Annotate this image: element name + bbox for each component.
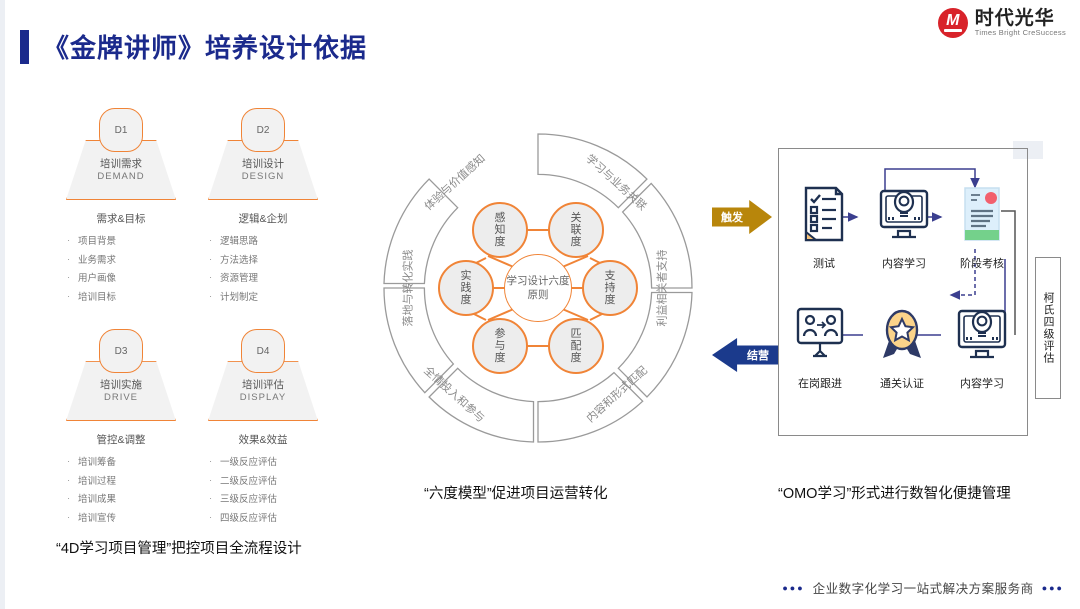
fourd-name-en-d2: DESIGN (242, 171, 284, 184)
fourd-badge-d3: D3 (99, 329, 143, 373)
omo-step-stage-assessment[interactable]: 阶段考核 (945, 177, 1019, 271)
omo-step-content-learning-top[interactable]: 内容学习 (867, 177, 941, 271)
wheel-node-label: 感知度 (493, 212, 507, 249)
caption-fourd: “4D学习项目管理”把控项目全流程设计 (56, 537, 302, 558)
fourd-name-cn-d2: 培训设计 (242, 157, 284, 171)
brand-logo: M 时代光华 Times Bright CreSuccess (938, 8, 1066, 38)
fourd-item-d1: D1 培训需求 DEMAND 需求&目标 项目背景 业务需求 用户画像 培训目标 (62, 108, 180, 307)
fourd-name-en-d1: DEMAND (97, 171, 144, 184)
fourd-bullets-d2: 逻辑思路 方法选择 资源管理 计划制定 (204, 233, 322, 307)
slide: 《金牌讲师》培养设计依据 M 时代光华 Times Bright CreSucc… (0, 0, 1080, 609)
title-accent-bar (20, 30, 29, 64)
fourd-item-d2: D2 培训设计 DESIGN 逻辑&企划 逻辑思路 方法选择 资源管理 计划制定 (204, 108, 322, 307)
footer-text: 企业数字化学习一站式解决方案服务商 (813, 578, 1034, 597)
list-item: 业务需求 (78, 252, 180, 271)
logo-letter: M (938, 13, 968, 28)
list-item: 培训目标 (78, 289, 180, 308)
fourd-badge-d1: D1 (99, 108, 143, 152)
fourd-name-cn-d1: 培训需求 (100, 157, 142, 171)
fourd-badge-d4: D4 (241, 329, 285, 373)
omo-step-label: 内容学习 (867, 255, 941, 271)
caption-omo: “OMO学习”形式进行数智化便捷管理 (778, 482, 1011, 503)
fourd-head-d1: 需求&目标 (62, 211, 180, 226)
wheel-node-label: 支持度 (603, 270, 617, 307)
people-board-icon (783, 297, 857, 371)
omo-step-on-job-followup[interactable]: 在岗跟进 (783, 297, 857, 391)
omo-step-label: 在岗跟进 (783, 375, 857, 391)
fourd-section: D1 培训需求 DEMAND 需求&目标 项目背景 业务需求 用户画像 培训目标… (62, 108, 322, 528)
trigger-arrow-label: 触发 (721, 209, 743, 225)
logo-underbar (944, 29, 962, 32)
wheel-node-participation[interactable]: 参与度 (472, 318, 528, 374)
fourd-badge-d2: D2 (241, 108, 285, 152)
title-text: 《金牌讲师》培养设计依据 (43, 28, 367, 65)
wheel-hub: 学习设计六度原则 (504, 254, 572, 322)
ring-label-stakeholder-support: 利益相关者支持 (654, 250, 670, 327)
omo-step-label: 阶段考核 (945, 255, 1019, 271)
list-item: 培训宣传 (78, 510, 180, 529)
list-item: 二级反应评估 (220, 473, 322, 492)
fourd-item-d3: D3 培训实施 DRIVE 管控&调整 培训筹备 培训过程 培训成果 培训宣传 (62, 329, 180, 528)
list-item: 用户画像 (78, 270, 180, 289)
fourd-shape-d2: D2 培训设计 DESIGN (204, 108, 322, 200)
wheel-node-label: 关联度 (569, 212, 583, 249)
fourd-shape-d4: D4 培训评估 DISPLAY (204, 329, 322, 421)
fourd-row-bottom: D3 培训实施 DRIVE 管控&调整 培训筹备 培训过程 培训成果 培训宣传 … (62, 329, 322, 528)
page-title: 《金牌讲师》培养设计依据 (20, 28, 367, 65)
fourd-name-en-d3: DRIVE (104, 392, 138, 405)
monitor-bulb-icon (945, 297, 1019, 371)
report-icon (945, 177, 1019, 251)
list-item: 四级反应评估 (220, 510, 322, 529)
list-item: 计划制定 (220, 289, 322, 308)
closing-arrow-label: 结营 (747, 347, 769, 363)
list-item: 资源管理 (220, 270, 322, 289)
logo-name-en: Times Bright CreSuccess (975, 29, 1066, 37)
omo-flow: 测试 内容学习 (779, 149, 1027, 435)
omo-section: 测试 内容学习 (778, 148, 1028, 436)
fourd-shape-d3: D3 培训实施 DRIVE (62, 329, 180, 421)
wheel-node-label: 参与度 (493, 328, 507, 365)
list-item: 项目背景 (78, 233, 180, 252)
list-item: 三级反应评估 (220, 491, 322, 510)
wheel-hub-label: 学习设计六度原则 (505, 274, 571, 302)
trigger-arrow: 触发 (712, 200, 772, 234)
footer-dots-left: ●●● (782, 583, 804, 593)
wheel-node-support[interactable]: 支持度 (582, 260, 638, 316)
list-item: 培训过程 (78, 473, 180, 492)
fourd-bullets-d1: 项目背景 业务需求 用户画像 培训目标 (62, 233, 180, 307)
omo-step-label: 测试 (787, 255, 861, 271)
monitor-bulb-icon (867, 177, 941, 251)
omo-step-pass-certification[interactable]: 通关认证 (865, 297, 939, 391)
fourd-name-cn-d4: 培训评估 (242, 378, 284, 392)
wheel-node-match[interactable]: 匹配度 (548, 318, 604, 374)
footer-dots-right: ●●● (1042, 583, 1064, 593)
medal-icon (865, 297, 939, 371)
fourd-bullets-d4: 一级反应评估 二级反应评估 三级反应评估 四级反应评估 (204, 454, 322, 528)
ring-label-landing-transfer: 落地与转化实践 (400, 250, 416, 327)
fourd-head-d2: 逻辑&企划 (204, 211, 322, 226)
left-edge-strip (0, 0, 5, 609)
fourd-shape-d1: D1 培训需求 DEMAND (62, 108, 180, 200)
omo-step-test[interactable]: 测试 (787, 177, 861, 271)
list-item: 逻辑思路 (220, 233, 322, 252)
footer: ●●● 企业数字化学习一站式解决方案服务商 ●●● (782, 578, 1064, 597)
wheel-node-relevance[interactable]: 关联度 (548, 202, 604, 258)
fourd-bullets-d3: 培训筹备 培训过程 培训成果 培训宣传 (62, 454, 180, 528)
closing-arrow: 结营 (712, 338, 778, 372)
list-item: 方法选择 (220, 252, 322, 271)
omo-step-label: 内容学习 (945, 375, 1019, 391)
fourd-head-d4: 效果&效益 (204, 432, 322, 447)
fourd-item-d4: D4 培训评估 DISPLAY 效果&效益 一级反应评估 二级反应评估 三级反应… (204, 329, 322, 528)
caption-wheel: “六度模型”促进项目运营转化 (424, 482, 608, 503)
list-item: 培训筹备 (78, 454, 180, 473)
fourd-row-top: D1 培训需求 DEMAND 需求&目标 项目背景 业务需求 用户画像 培训目标… (62, 108, 322, 307)
fourd-name-en-d4: DISPLAY (240, 392, 286, 405)
logo-name-cn: 时代光华 (975, 9, 1066, 29)
omo-step-label: 通关认证 (865, 375, 939, 391)
fourd-name-cn-d3: 培训实施 (100, 378, 142, 392)
wheel-node-practice[interactable]: 实践度 (438, 260, 494, 316)
wheel-node-perception[interactable]: 感知度 (472, 202, 528, 258)
checklist-icon (787, 177, 861, 251)
list-item: 培训成果 (78, 491, 180, 510)
wheel-node-label: 匹配度 (569, 328, 583, 365)
list-item: 一级反应评估 (220, 454, 322, 473)
six-degree-wheel: 感知度 关联度 支持度 匹配度 参与度 实践度 学习设计六度原则 体验与价值感知… (378, 128, 698, 448)
fourd-head-d3: 管控&调整 (62, 432, 180, 447)
logo-mark-icon: M (938, 8, 968, 38)
kirkpatrick-label: 柯氏四级评估 (1035, 257, 1061, 399)
omo-step-content-learning-bottom[interactable]: 内容学习 (945, 297, 1019, 391)
logo-text: 时代光华 Times Bright CreSuccess (975, 9, 1066, 37)
wheel-node-label: 实践度 (459, 270, 473, 307)
